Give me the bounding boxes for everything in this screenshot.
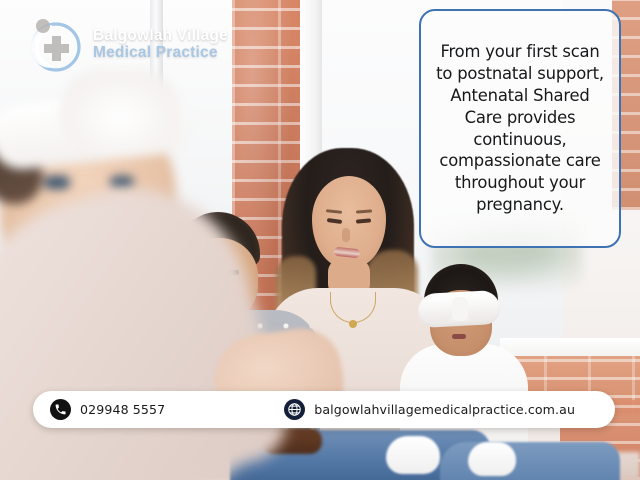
phone-icon bbox=[50, 399, 71, 420]
website-url-text: balgowlahvillagemedicalpractice.com.au bbox=[314, 402, 575, 417]
baby-left-eye-left bbox=[44, 176, 70, 189]
medical-cross-circle-logo-icon bbox=[22, 14, 84, 76]
denim-jeans-second bbox=[440, 442, 620, 480]
baby-right-bow-knot bbox=[452, 297, 468, 321]
globe-icon bbox=[284, 399, 305, 420]
contact-bar: 029948 5557 balgowlahvillagemedicalpract… bbox=[33, 391, 615, 428]
baby-left-eye-right bbox=[110, 176, 134, 189]
contact-phone[interactable]: 029948 5557 bbox=[50, 399, 165, 420]
logo-name-line2: Medical Practice bbox=[93, 45, 228, 62]
baby-right-mouth bbox=[452, 334, 466, 339]
promotional-banner: Balgowlah Village Medical Practice From … bbox=[0, 0, 640, 480]
logo-name-line1: Balgowlah Village bbox=[93, 28, 228, 45]
white-sock-left bbox=[386, 436, 440, 474]
quote-card: From your first scan to postnatal suppor… bbox=[419, 9, 621, 248]
necklace-pendant bbox=[349, 320, 357, 328]
contact-website[interactable]: balgowlahvillagemedicalpractice.com.au bbox=[284, 399, 575, 420]
logo-wordmark: Balgowlah Village Medical Practice bbox=[93, 28, 228, 61]
practice-logo[interactable]: Balgowlah Village Medical Practice bbox=[22, 14, 228, 76]
phone-number-text: 029948 5557 bbox=[80, 402, 165, 417]
woman-nose bbox=[342, 228, 350, 242]
baby-left-headband-puff bbox=[60, 70, 180, 156]
quote-text: From your first scan to postnatal suppor… bbox=[432, 41, 608, 216]
white-sock-right bbox=[468, 442, 516, 476]
